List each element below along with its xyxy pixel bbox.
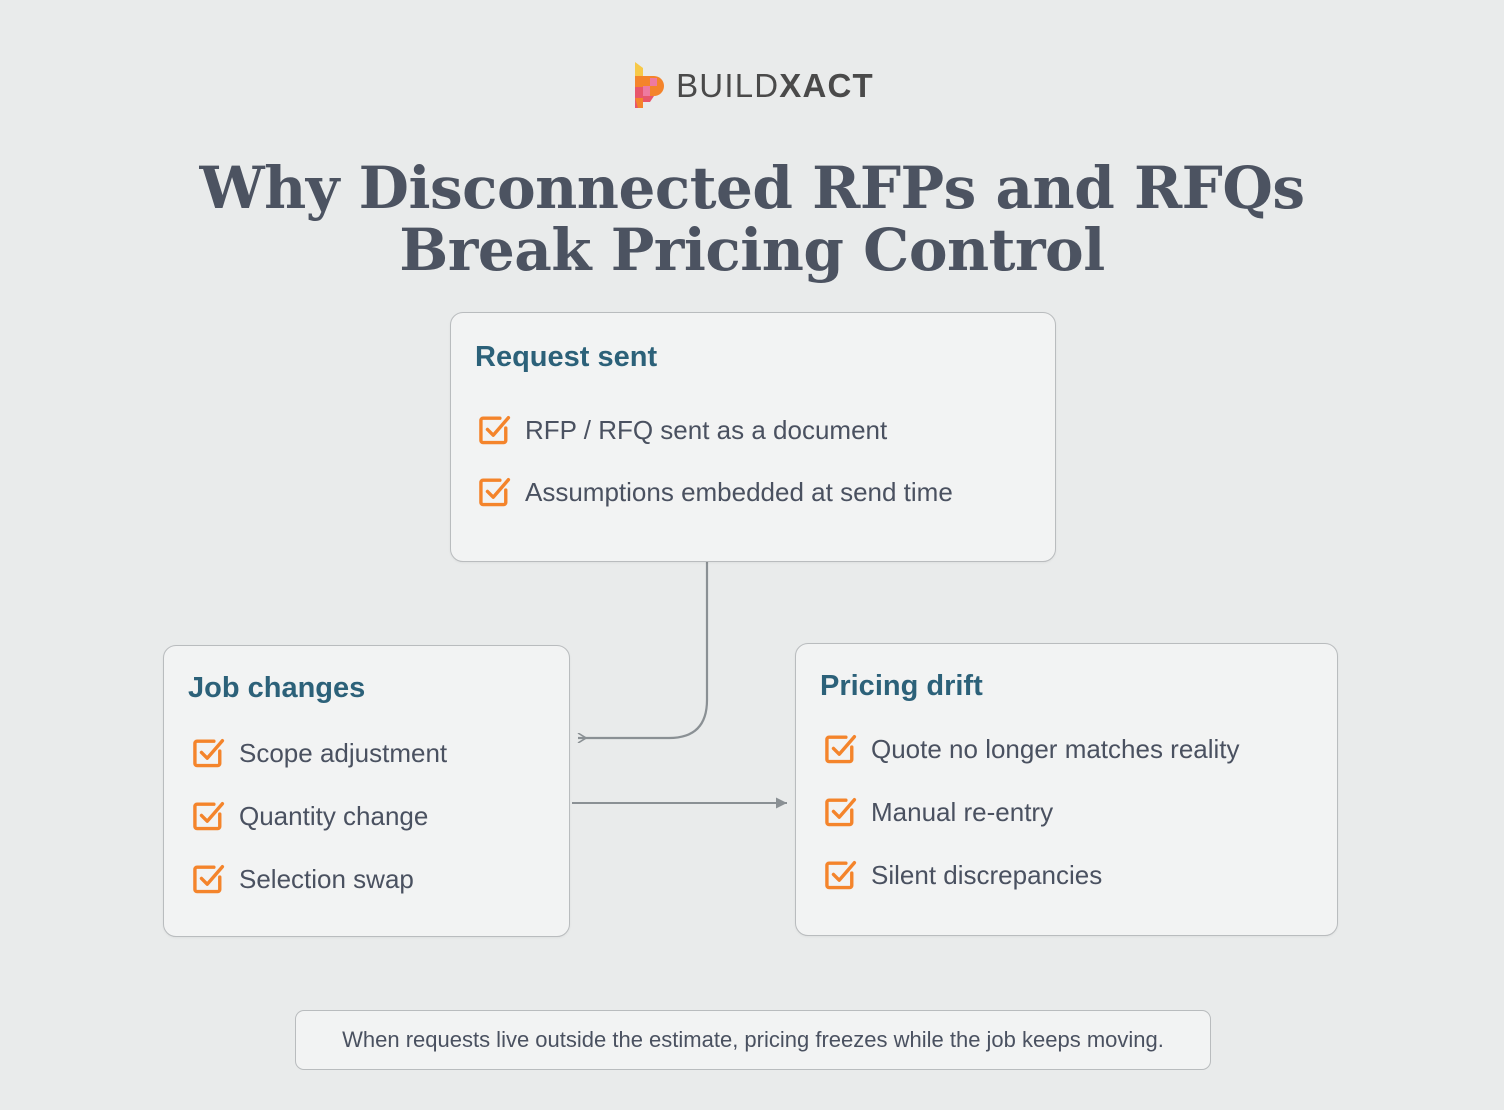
list-item-label: Assumptions embedded at send time [525, 477, 953, 507]
brand-wordmark: BUILDXACT [676, 69, 874, 102]
page-title: Why Disconnected RFPs and RFQs Break Pri… [0, 157, 1504, 281]
list-item: Silent discrepancies [823, 858, 1240, 892]
card-pricing-drift-title: Pricing drift [820, 672, 983, 701]
card-pricing-drift-list: Quote no longer matches reality Manual r… [823, 732, 1240, 921]
list-item: Selection swap [191, 862, 447, 896]
connector-request-sent-to-job-changes [578, 562, 707, 738]
checkbox-checked-icon [191, 862, 225, 896]
checkbox-checked-icon [823, 732, 857, 766]
brand-wordmark-light: BUILD [676, 67, 779, 104]
list-item-label: Quantity change [239, 801, 428, 831]
card-job-changes: Job changes Scope adjustment Quantity ch… [163, 645, 570, 937]
footer-note-text: When requests live outside the estimate,… [342, 1027, 1164, 1053]
list-item: Manual re-entry [823, 795, 1240, 829]
card-job-changes-title: Job changes [188, 674, 365, 703]
page-title-line-1: Why Disconnected RFPs and RFQs [0, 157, 1504, 219]
checkbox-checked-icon [477, 475, 511, 509]
list-item: Assumptions embedded at send time [477, 475, 953, 509]
list-item: Quote no longer matches reality [823, 732, 1240, 766]
checkbox-checked-icon [191, 736, 225, 770]
brand-logo: BUILDXACT [0, 62, 1504, 108]
checkbox-checked-icon [477, 413, 511, 447]
list-item: Scope adjustment [191, 736, 447, 770]
card-pricing-drift: Pricing drift Quote no longer matches re… [795, 643, 1338, 936]
list-item-label: Manual re-entry [871, 797, 1053, 827]
list-item-label: Silent discrepancies [871, 860, 1102, 890]
list-item: Quantity change [191, 799, 447, 833]
footer-note: When requests live outside the estimate,… [295, 1010, 1211, 1070]
list-item-label: Selection swap [239, 864, 414, 894]
list-item: RFP / RFQ sent as a document [477, 413, 953, 447]
checkbox-checked-icon [823, 795, 857, 829]
card-request-sent-title: Request sent [475, 343, 657, 372]
card-request-sent-list: RFP / RFQ sent as a document Assumptions… [477, 413, 953, 537]
card-job-changes-list: Scope adjustment Quantity change Selecti… [191, 736, 447, 925]
checkbox-checked-icon [191, 799, 225, 833]
buildxact-b-mark-icon [630, 62, 664, 108]
brand-wordmark-bold: XACT [779, 67, 874, 104]
checkbox-checked-icon [823, 858, 857, 892]
list-item-label: Scope adjustment [239, 738, 447, 768]
list-item-label: RFP / RFQ sent as a document [525, 415, 887, 445]
page-title-line-2: Break Pricing Control [0, 219, 1504, 281]
card-request-sent: Request sent RFP / RFQ sent as a documen… [450, 312, 1056, 562]
list-item-label: Quote no longer matches reality [871, 734, 1240, 764]
